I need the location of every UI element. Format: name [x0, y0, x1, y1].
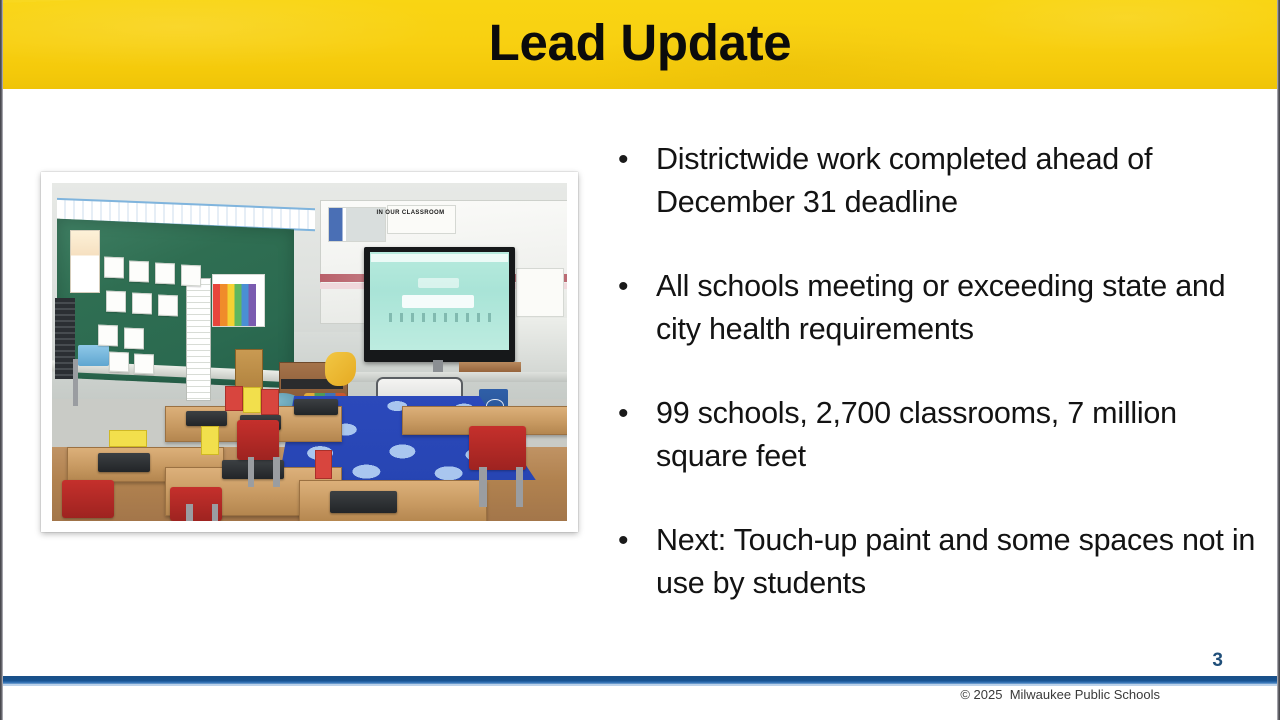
photo-laptop: [98, 453, 150, 472]
bullet-text: All schools meeting or exceeding state a…: [656, 265, 1276, 351]
copyright-text: © 2025 Milwaukee Public Schools: [960, 687, 1160, 702]
bullet-text: Districtwide work completed ahead of Dec…: [656, 138, 1276, 224]
photo-desk-tag: [315, 450, 332, 479]
photo-desk-tag: [109, 430, 147, 447]
bullet-text: Next: Touch-up paint and some spaces not…: [656, 519, 1276, 605]
photo-index-card: [109, 352, 129, 372]
bullet-text: 99 schools, 2,700 classrooms, 7 million …: [656, 392, 1276, 478]
photo-blue-tray: [78, 345, 109, 365]
photo-classroom-sign: IN OUR CLASSROOM: [376, 210, 505, 247]
list-item: • Next: Touch-up paint and some spaces n…: [612, 519, 1276, 605]
photo-chair-leg: [273, 457, 279, 487]
photo-wall-poster: [70, 230, 100, 293]
photo-whiteboard-chart: [516, 268, 564, 317]
photo-chair-leg: [186, 504, 193, 521]
photo-chair-leg: [516, 467, 523, 508]
photo-index-card: [181, 264, 201, 286]
footer-divider: [0, 676, 1280, 684]
bullet-marker-icon: •: [612, 392, 656, 435]
photo-desk-tag: [243, 387, 261, 413]
photo-smartboard-logo: [418, 278, 459, 288]
bullet-marker-icon: •: [612, 519, 656, 562]
list-item: • 99 schools, 2,700 classrooms, 7 millio…: [612, 392, 1276, 478]
photo-desk-tag: [201, 426, 218, 455]
photo-index-card: [124, 328, 144, 350]
list-item: • Districtwide work completed ahead of D…: [612, 138, 1276, 224]
photo-smartboard-toolbar: [371, 254, 507, 262]
photo-smartboard-icon-row: [389, 313, 492, 321]
footer-divider-thin: [0, 684, 1280, 686]
slide-left-edge-rail: [0, 0, 3, 720]
slide-number: 3: [1212, 650, 1223, 672]
list-item: • All schools meeting or exceeding state…: [612, 265, 1276, 351]
photo-chair-leg: [479, 467, 486, 508]
photo-index-card: [155, 262, 175, 284]
photo-vertical-chart: [186, 278, 211, 402]
bullet-marker-icon: •: [612, 265, 656, 308]
photo-yellow-tube-toy: [325, 352, 356, 386]
page-title: Lead Update: [0, 9, 1280, 77]
photo-student-chair: [469, 426, 526, 470]
photo-laptop: [330, 491, 397, 513]
photo-desk-tag: [261, 389, 279, 415]
photo-chair-leg: [73, 359, 78, 406]
photo-index-card: [132, 293, 152, 315]
photo-index-card: [134, 354, 154, 374]
photo-index-card: [98, 325, 118, 347]
photo-desk-tag: [225, 386, 243, 412]
photo-side-table: [459, 362, 521, 372]
photo-student-chair: [237, 420, 278, 461]
photo-chair-leg: [248, 457, 254, 487]
photo-student-chair: [62, 480, 114, 517]
bullet-list: • Districtwide work completed ahead of D…: [612, 138, 1276, 605]
photo-index-card: [129, 260, 149, 282]
photo-index-card: [158, 295, 178, 317]
classroom-photo-frame: IN OUR CLASSROOM: [41, 172, 578, 532]
photo-chair-leg: [212, 504, 219, 521]
photo-index-card: [104, 257, 124, 279]
photo-index-card: [106, 291, 126, 313]
photo-laptop: [186, 411, 227, 426]
classroom-photo: IN OUR CLASSROOM: [52, 183, 567, 521]
title-banner: Lead Update: [0, 0, 1280, 89]
slide-canvas: Lead Update: [0, 0, 1280, 720]
photo-laptop: [294, 399, 338, 414]
photo-smartboard-searchbox: [402, 295, 474, 309]
photo-rainbow-poster: [212, 274, 266, 327]
bullet-marker-icon: •: [612, 138, 656, 181]
